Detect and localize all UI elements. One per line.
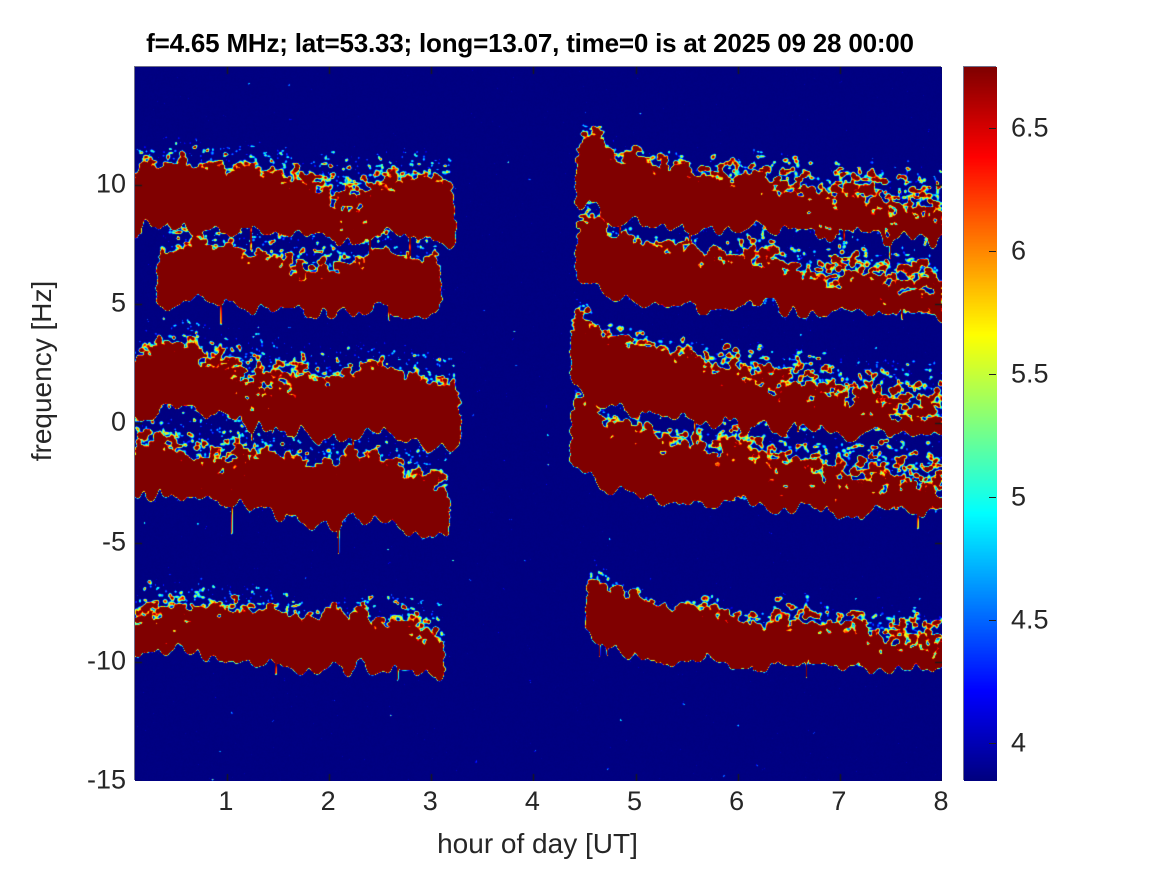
page-title: f=4.65 MHz; lat=53.33; long=13.07, time=… bbox=[0, 28, 1060, 59]
x-tick-label: 1 bbox=[196, 786, 256, 817]
y-tick-label: 5 bbox=[80, 288, 126, 319]
x-tick-label: 4 bbox=[502, 786, 562, 817]
x-tick-label: 5 bbox=[605, 786, 665, 817]
colorbar-tick-marks bbox=[963, 66, 996, 780]
y-axis-ticks: 1050-5-10-15 bbox=[66, 66, 126, 780]
colorbar-tick-label: 6.5 bbox=[1011, 112, 1049, 143]
colorbar-tick-mark bbox=[989, 497, 996, 498]
colorbar-tick-mark bbox=[989, 251, 996, 252]
y-axis-label: frequency [Hz] bbox=[26, 221, 58, 521]
colorbar-tick-label: 4.5 bbox=[1011, 604, 1049, 635]
colorbar-tick-label: 4 bbox=[1011, 728, 1026, 759]
x-tick-label: 7 bbox=[809, 786, 869, 817]
x-tick-label: 8 bbox=[911, 786, 971, 817]
y-tick-label: 10 bbox=[80, 169, 126, 200]
y-tick-label: -10 bbox=[80, 645, 126, 676]
y-tick-label: -5 bbox=[80, 526, 126, 557]
colorbar-tick-mark bbox=[989, 620, 996, 621]
colorbar-tick-label: 6 bbox=[1011, 235, 1026, 266]
colorbar-tick-labels: 6.565.554.54 bbox=[999, 66, 1079, 780]
spectrogram-plot-area bbox=[134, 66, 941, 780]
colorbar-tick-mark bbox=[989, 128, 996, 129]
x-tick-label: 6 bbox=[707, 786, 767, 817]
colorbar-tick-mark bbox=[989, 374, 996, 375]
x-tick-label: 2 bbox=[298, 786, 358, 817]
x-axis-label: hour of day [UT] bbox=[134, 828, 941, 860]
y-tick-label: 0 bbox=[80, 407, 126, 438]
x-axis-ticks: 12345678 bbox=[134, 786, 941, 826]
colorbar-tick-label: 5 bbox=[1011, 481, 1026, 512]
colorbar-tick-label: 5.5 bbox=[1011, 358, 1049, 389]
colorbar-tick-mark bbox=[989, 743, 996, 744]
y-tick-label: -15 bbox=[80, 765, 126, 796]
spectrogram-canvas bbox=[135, 67, 942, 781]
x-tick-label: 3 bbox=[400, 786, 460, 817]
